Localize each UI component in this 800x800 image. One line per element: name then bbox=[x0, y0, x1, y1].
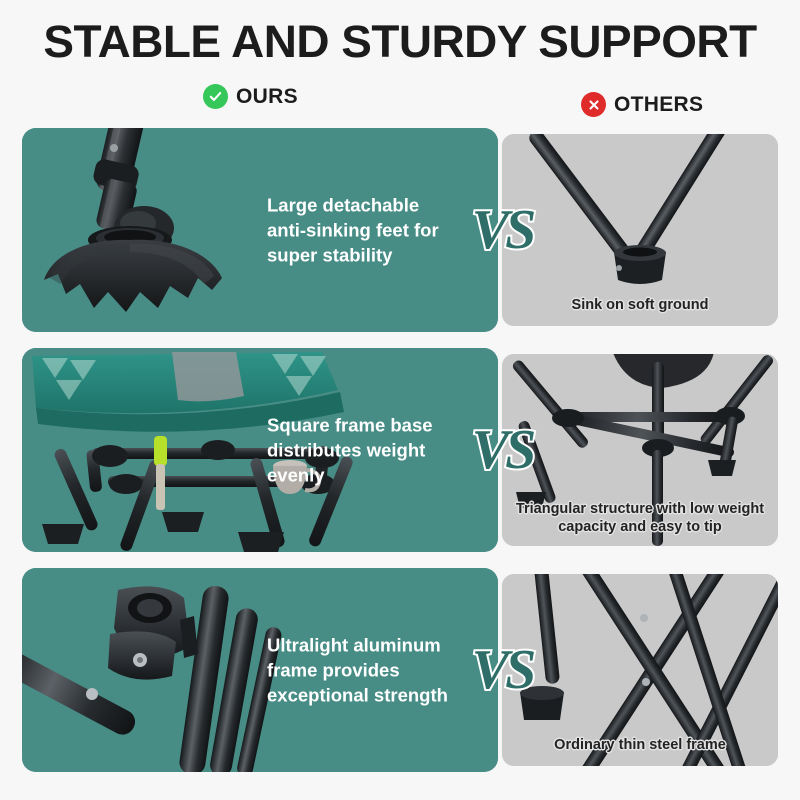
others-caption-1: Sink on soft ground bbox=[502, 296, 778, 314]
ours-panel-3: Ultralight aluminum frame provides excep… bbox=[22, 568, 498, 772]
x-circle-icon bbox=[581, 92, 606, 117]
comparison-badges: OURS OTHERS bbox=[0, 84, 800, 118]
others-panel-2: Triangular structure with low weight cap… bbox=[502, 354, 778, 546]
badge-ours-label: OURS bbox=[236, 85, 298, 109]
infographic-page: STABLE AND STURDY SUPPORT OURS OTHERS bbox=[0, 0, 800, 800]
ours-feature-text-3: Ultralight aluminum frame provides excep… bbox=[267, 633, 462, 708]
page-title: STABLE AND STURDY SUPPORT bbox=[0, 16, 800, 68]
badge-others: OTHERS bbox=[581, 92, 703, 117]
comparison-row-square-frame-base: Square frame base distributes weight eve… bbox=[0, 348, 800, 552]
ours-feature-text-1: Large detachable anti-sinking feet for s… bbox=[267, 193, 462, 268]
ours-panel-2: Square frame base distributes weight eve… bbox=[22, 348, 498, 552]
ours-panel-1: Large detachable anti-sinking feet for s… bbox=[22, 128, 498, 332]
check-circle-icon bbox=[203, 84, 228, 109]
others-caption-3: Ordinary thin steel frame bbox=[502, 736, 778, 754]
comparison-row-anti-sinking-feet: Large detachable anti-sinking feet for s… bbox=[0, 128, 800, 332]
ours-feature-text-2: Square frame base distributes weight eve… bbox=[267, 413, 462, 488]
comparison-row-aluminum-frame: Ultralight aluminum frame provides excep… bbox=[0, 568, 800, 772]
badge-others-label: OTHERS bbox=[614, 93, 703, 117]
badge-ours: OURS bbox=[203, 84, 298, 109]
others-panel-1: Sink on soft ground bbox=[502, 134, 778, 326]
others-panel-3: Ordinary thin steel frame bbox=[502, 574, 778, 766]
others-caption-2: Triangular structure with low weight cap… bbox=[502, 500, 778, 536]
